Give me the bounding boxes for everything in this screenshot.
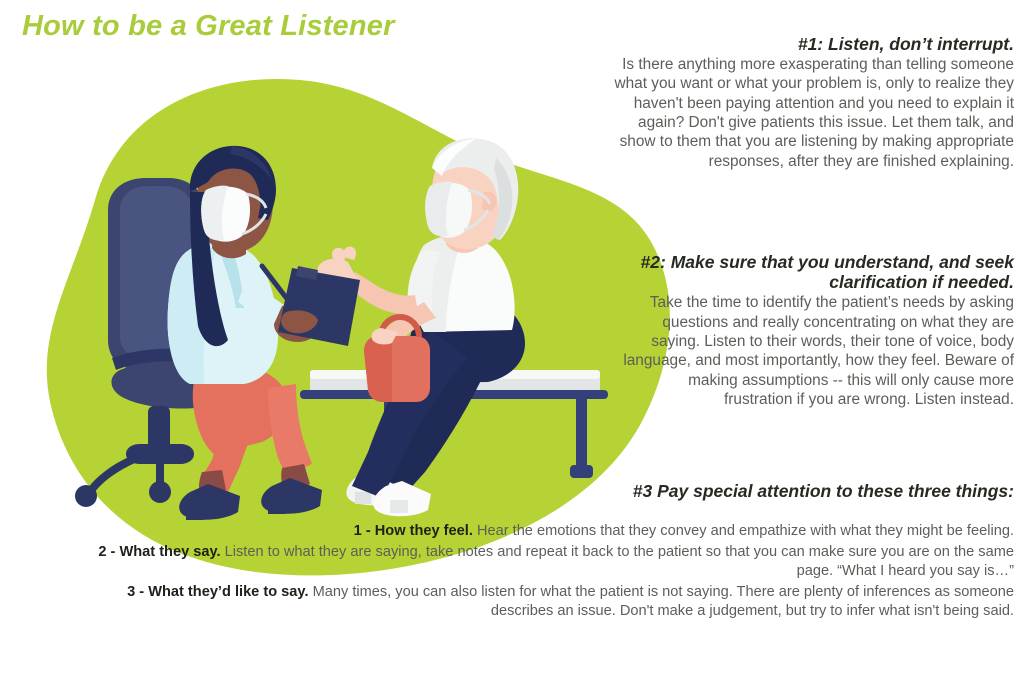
- list-item-lead: 2 - What they say.: [98, 544, 220, 560]
- section-3-heading: #3 Pay special attention to these three …: [594, 481, 1014, 502]
- list-item-text: Listen to what they are saying, take not…: [225, 544, 1014, 579]
- infographic-page: How to be a Great Listener: [0, 0, 1024, 683]
- section-1-body: Is there anything more exasperating than…: [614, 55, 1014, 171]
- section-2: #2: Make sure that you understand, and s…: [622, 252, 1014, 409]
- list-item-text: Hear the emotions that they convey and e…: [477, 523, 1014, 539]
- list-item: 3 - What they’d like to say. Many times,…: [78, 583, 1014, 621]
- section-1-heading: #1: Listen, don’t interrupt.: [614, 34, 1014, 54]
- page-title: How to be a Great Listener: [22, 10, 395, 43]
- list-item: 1 - How they feel. Hear the emotions tha…: [78, 522, 1014, 541]
- section-1: #1: Listen, don’t interrupt. Is there an…: [614, 34, 1014, 171]
- list-item-lead: 1 - How they feel.: [354, 523, 473, 539]
- list-item: 2 - What they say. Listen to what they a…: [78, 543, 1014, 581]
- section-3-items: 1 - How they feel. Hear the emotions tha…: [78, 520, 1014, 621]
- list-item-lead: 3 - What they’d like to say.: [127, 584, 308, 600]
- section-2-body: Take the time to identify the patient’s …: [622, 293, 1014, 409]
- section-2-heading: #2: Make sure that you understand, and s…: [622, 252, 1014, 292]
- list-item-text: Many times, you can also listen for what…: [313, 584, 1014, 619]
